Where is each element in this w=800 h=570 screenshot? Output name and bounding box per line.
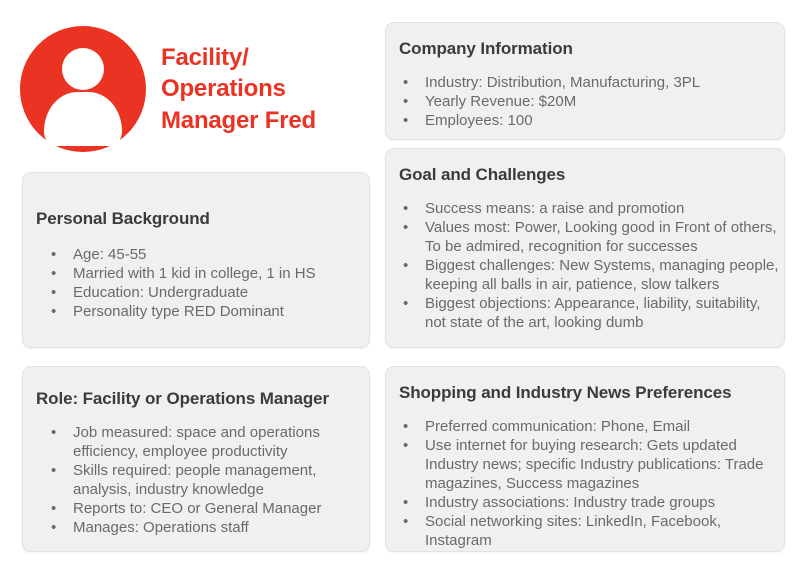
list-item: •Industry: Distribution, Manufacturing, …: [395, 73, 784, 92]
list-item-text: Reports to: CEO or General Manager: [73, 500, 321, 517]
bullet-dot-icon: •: [403, 73, 408, 92]
list-item: •Personality type RED Dominant: [43, 302, 369, 321]
role-bullet-list: •Job measured: space and operations effi…: [43, 423, 369, 537]
list-item: •Yearly Revenue: $20M: [395, 92, 784, 111]
list-item: •Age: 45-55: [43, 245, 369, 264]
list-item-text: Industry associations: Industry trade gr…: [425, 494, 715, 511]
list-item: •Married with 1 kid in college, 1 in HS: [43, 264, 369, 283]
persona-title-line-2: Operations: [161, 73, 316, 104]
person-avatar-icon: [20, 26, 146, 152]
personal-background-bullet-list: •Age: 45-55 •Married with 1 kid in colle…: [43, 245, 369, 321]
list-item: •Reports to: CEO or General Manager: [43, 499, 369, 518]
card-company-information: Company Information •Industry: Distribut…: [385, 22, 785, 140]
list-item: •Job measured: space and operations effi…: [43, 423, 369, 461]
list-item-text: Use internet for buying research: Gets u…: [425, 437, 764, 492]
card-personal-background: Personal Background •Age: 45-55 •Married…: [22, 172, 370, 348]
avatar-head-shape: [62, 48, 104, 90]
bullet-dot-icon: •: [51, 302, 56, 321]
list-item-text: Personality type RED Dominant: [73, 303, 284, 320]
list-item-text: Biggest objections: Appearance, liabilit…: [425, 295, 760, 331]
card-title-shopping-and-industry-news-preferences: Shopping and Industry News Preferences: [399, 383, 784, 403]
bullet-dot-icon: •: [403, 493, 408, 512]
list-item-text: Age: 45-55: [73, 246, 146, 263]
shopping-preferences-bullet-list: •Preferred communication: Phone, Email •…: [395, 417, 784, 550]
list-item: •Preferred communication: Phone, Email: [395, 417, 784, 436]
list-item: •Success means: a raise and promotion: [395, 199, 784, 218]
list-item: •Skills required: people management, ana…: [43, 461, 369, 499]
bullet-dot-icon: •: [403, 111, 408, 130]
goal-and-challenges-bullet-list: •Success means: a raise and promotion •V…: [395, 199, 784, 332]
bullet-dot-icon: •: [403, 417, 408, 436]
persona-title-line-1: Facility/: [161, 42, 316, 73]
bullet-dot-icon: •: [403, 199, 408, 218]
list-item-text: Industry: Distribution, Manufacturing, 3…: [425, 74, 700, 91]
list-item: •Biggest challenges: New Systems, managi…: [395, 256, 784, 294]
bullet-dot-icon: •: [403, 512, 408, 531]
persona-title-line-3: Manager Fred: [161, 105, 316, 136]
list-item-text: Married with 1 kid in college, 1 in HS: [73, 265, 316, 282]
list-item-text: Skills required: people management, anal…: [73, 462, 316, 498]
persona-title: Facility/ Operations Manager Fred: [161, 42, 316, 136]
list-item: •Industry associations: Industry trade g…: [395, 493, 784, 512]
bullet-dot-icon: •: [51, 245, 56, 264]
card-title-role: Role: Facility or Operations Manager: [36, 389, 369, 409]
card-title-goal-and-challenges: Goal and Challenges: [399, 165, 784, 185]
persona-header: Facility/ Operations Manager Fred: [20, 25, 370, 153]
bullet-dot-icon: •: [51, 499, 56, 518]
list-item: •Employees: 100: [395, 111, 784, 130]
list-item-text: Social networking sites: LinkedIn, Faceb…: [425, 513, 721, 549]
list-item: •Social networking sites: LinkedIn, Face…: [395, 512, 784, 550]
bullet-dot-icon: •: [51, 283, 56, 302]
bullet-dot-icon: •: [403, 436, 408, 455]
list-item-text: Education: Undergraduate: [73, 284, 248, 301]
card-title-personal-background: Personal Background: [36, 209, 369, 229]
avatar-body-shape: [44, 92, 122, 154]
list-item-text: Values most: Power, Looking good in Fron…: [425, 219, 777, 255]
bullet-dot-icon: •: [403, 92, 408, 111]
list-item-text: Manages: Operations staff: [73, 519, 249, 536]
list-item-text: Preferred communication: Phone, Email: [425, 418, 690, 435]
list-item: •Biggest objections: Appearance, liabili…: [395, 294, 784, 332]
list-item-text: Employees: 100: [425, 112, 533, 129]
card-role: Role: Facility or Operations Manager •Jo…: [22, 366, 370, 552]
bullet-dot-icon: •: [51, 264, 56, 283]
bullet-dot-icon: •: [403, 218, 408, 237]
bullet-dot-icon: •: [51, 423, 56, 442]
bullet-dot-icon: •: [403, 256, 408, 275]
list-item: •Values most: Power, Looking good in Fro…: [395, 218, 784, 256]
card-title-company-information: Company Information: [399, 39, 784, 59]
list-item-text: Yearly Revenue: $20M: [425, 93, 576, 110]
list-item: •Manages: Operations staff: [43, 518, 369, 537]
bullet-dot-icon: •: [51, 518, 56, 537]
list-item: •Education: Undergraduate: [43, 283, 369, 302]
list-item-text: Success means: a raise and promotion: [425, 200, 684, 217]
company-information-bullet-list: •Industry: Distribution, Manufacturing, …: [395, 73, 784, 130]
list-item: •Use internet for buying research: Gets …: [395, 436, 784, 493]
list-item-text: Job measured: space and operations effic…: [73, 424, 320, 460]
bullet-dot-icon: •: [403, 294, 408, 313]
bullet-dot-icon: •: [51, 461, 56, 480]
card-shopping-and-industry-news-preferences: Shopping and Industry News Preferences •…: [385, 366, 785, 552]
list-item-text: Biggest challenges: New Systems, managin…: [425, 257, 779, 293]
card-goal-and-challenges: Goal and Challenges •Success means: a ra…: [385, 148, 785, 348]
